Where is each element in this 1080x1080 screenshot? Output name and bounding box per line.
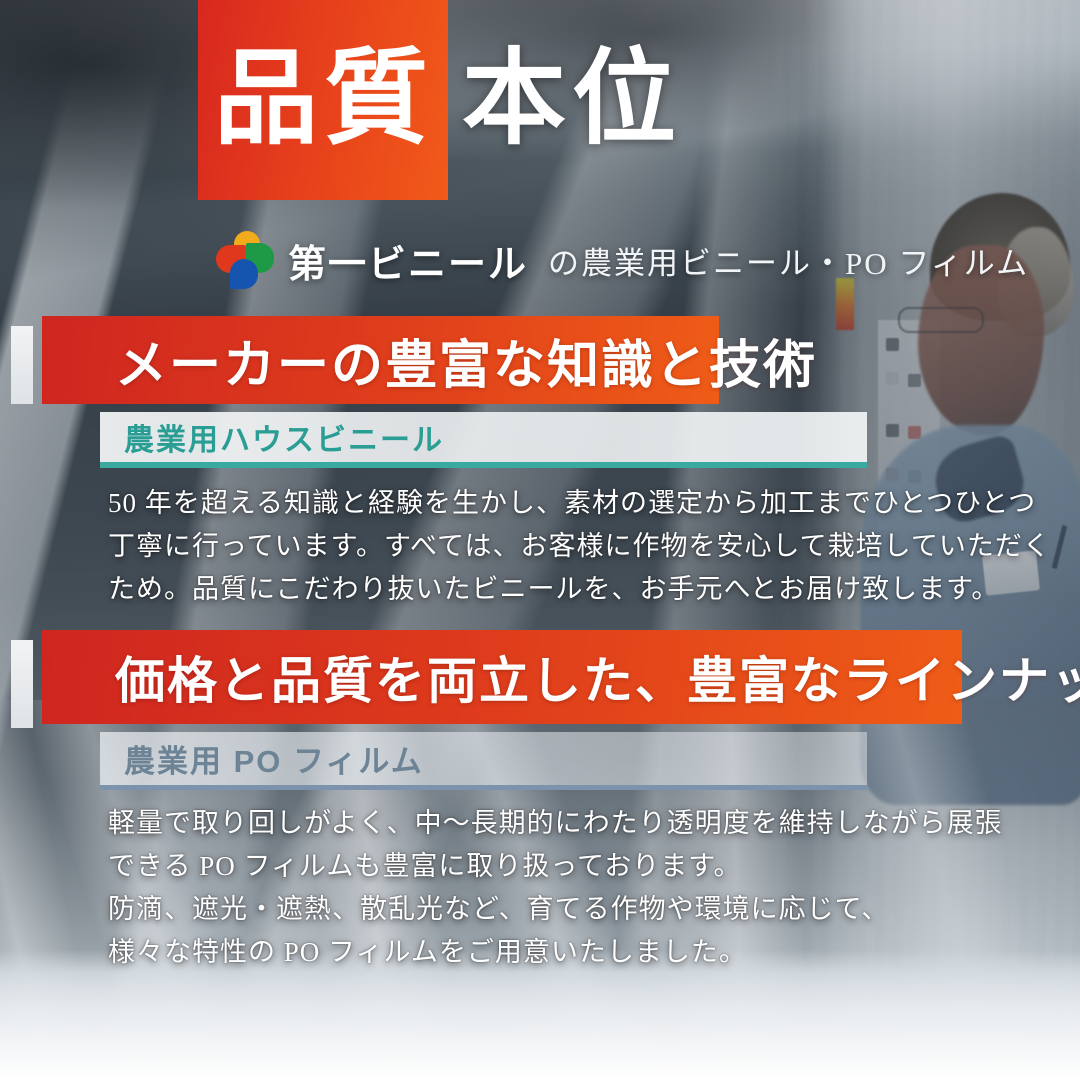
section-banner-text: 価格と品質を両立した、豊富なラインナップ xyxy=(115,641,1080,713)
section-banner-text: メーカーの豊富な知識と技術 xyxy=(115,323,817,398)
section-body-line: 防滴、遮光・遮熱、散乱光など、育てる作物や環境に応じて、 xyxy=(108,888,1003,931)
section-body-line: ため。品質にこだわり抜いたビニールを、お手元へとお届け致します。 xyxy=(108,568,1051,611)
section-body-line: 様々な特性の PO フィルムをご用意いたしました。 xyxy=(108,931,1003,974)
hero-title-highlight-text: 品質 xyxy=(214,48,434,152)
section-heading-text: 農業用 PO フィルム xyxy=(124,736,424,781)
hero-title: 品質 本位 xyxy=(198,0,682,200)
section-body-line: 50 年を超える知識と経験を生かし、素材の選定から加工までひとつひとつ xyxy=(108,482,1051,525)
brand-row: 第一ビニール の農業用ビニール・PO フィルム xyxy=(216,224,1029,296)
section-house-vinyl: メーカーの豊富な知識と技術 農業用ハウスビニール 50 年を超える知識と経験を生… xyxy=(0,316,1080,606)
four-petal-flower-logo-icon xyxy=(216,231,274,289)
section-banner: メーカーの豊富な知識と技術 xyxy=(42,316,719,404)
brand-name: 第一ビニール xyxy=(288,233,528,288)
brand-tagline: の農業用ビニール・PO フィルム xyxy=(548,238,1029,283)
section-po-film: 価格と品質を両立した、豊富なラインナップ 農業用 PO フィルム 軽量で取り回し… xyxy=(0,630,1080,960)
section-left-tab xyxy=(11,326,33,404)
content-overlay: 品質 本位 第一ビニール の農業用ビニール・PO フィルム メーカーの豊富な知識… xyxy=(0,0,1080,1080)
section-body: 軽量で取り回しがよく、中〜長期的にわたり透明度を維持しながら展張 できる PO … xyxy=(108,802,1003,974)
section-heading-band: 農業用 PO フィルム xyxy=(100,732,867,790)
promo-banner-page: 品質 本位 第一ビニール の農業用ビニール・PO フィルム メーカーの豊富な知識… xyxy=(0,0,1080,1080)
section-left-tab xyxy=(11,640,33,728)
section-heading-band: 農業用ハウスビニール xyxy=(100,412,867,468)
section-banner: 価格と品質を両立した、豊富なラインナップ xyxy=(42,630,962,724)
section-heading-text: 農業用ハウスビニール xyxy=(124,415,444,459)
section-body-line: 軽量で取り回しがよく、中〜長期的にわたり透明度を維持しながら展張 xyxy=(108,802,1003,845)
section-body-line: できる PO フィルムも豊富に取り扱っております。 xyxy=(108,845,1003,888)
section-body-line: 丁寧に行っています。すべては、お客様に作物を安心して栽培していただく xyxy=(108,525,1051,568)
hero-title-rest-text: 本位 xyxy=(448,0,682,200)
hero-title-highlight-block: 品質 xyxy=(198,0,448,200)
logo-petal-blue-icon xyxy=(230,259,258,289)
section-body: 50 年を超える知識と経験を生かし、素材の選定から加工までひとつひとつ 丁寧に行… xyxy=(108,482,1051,611)
